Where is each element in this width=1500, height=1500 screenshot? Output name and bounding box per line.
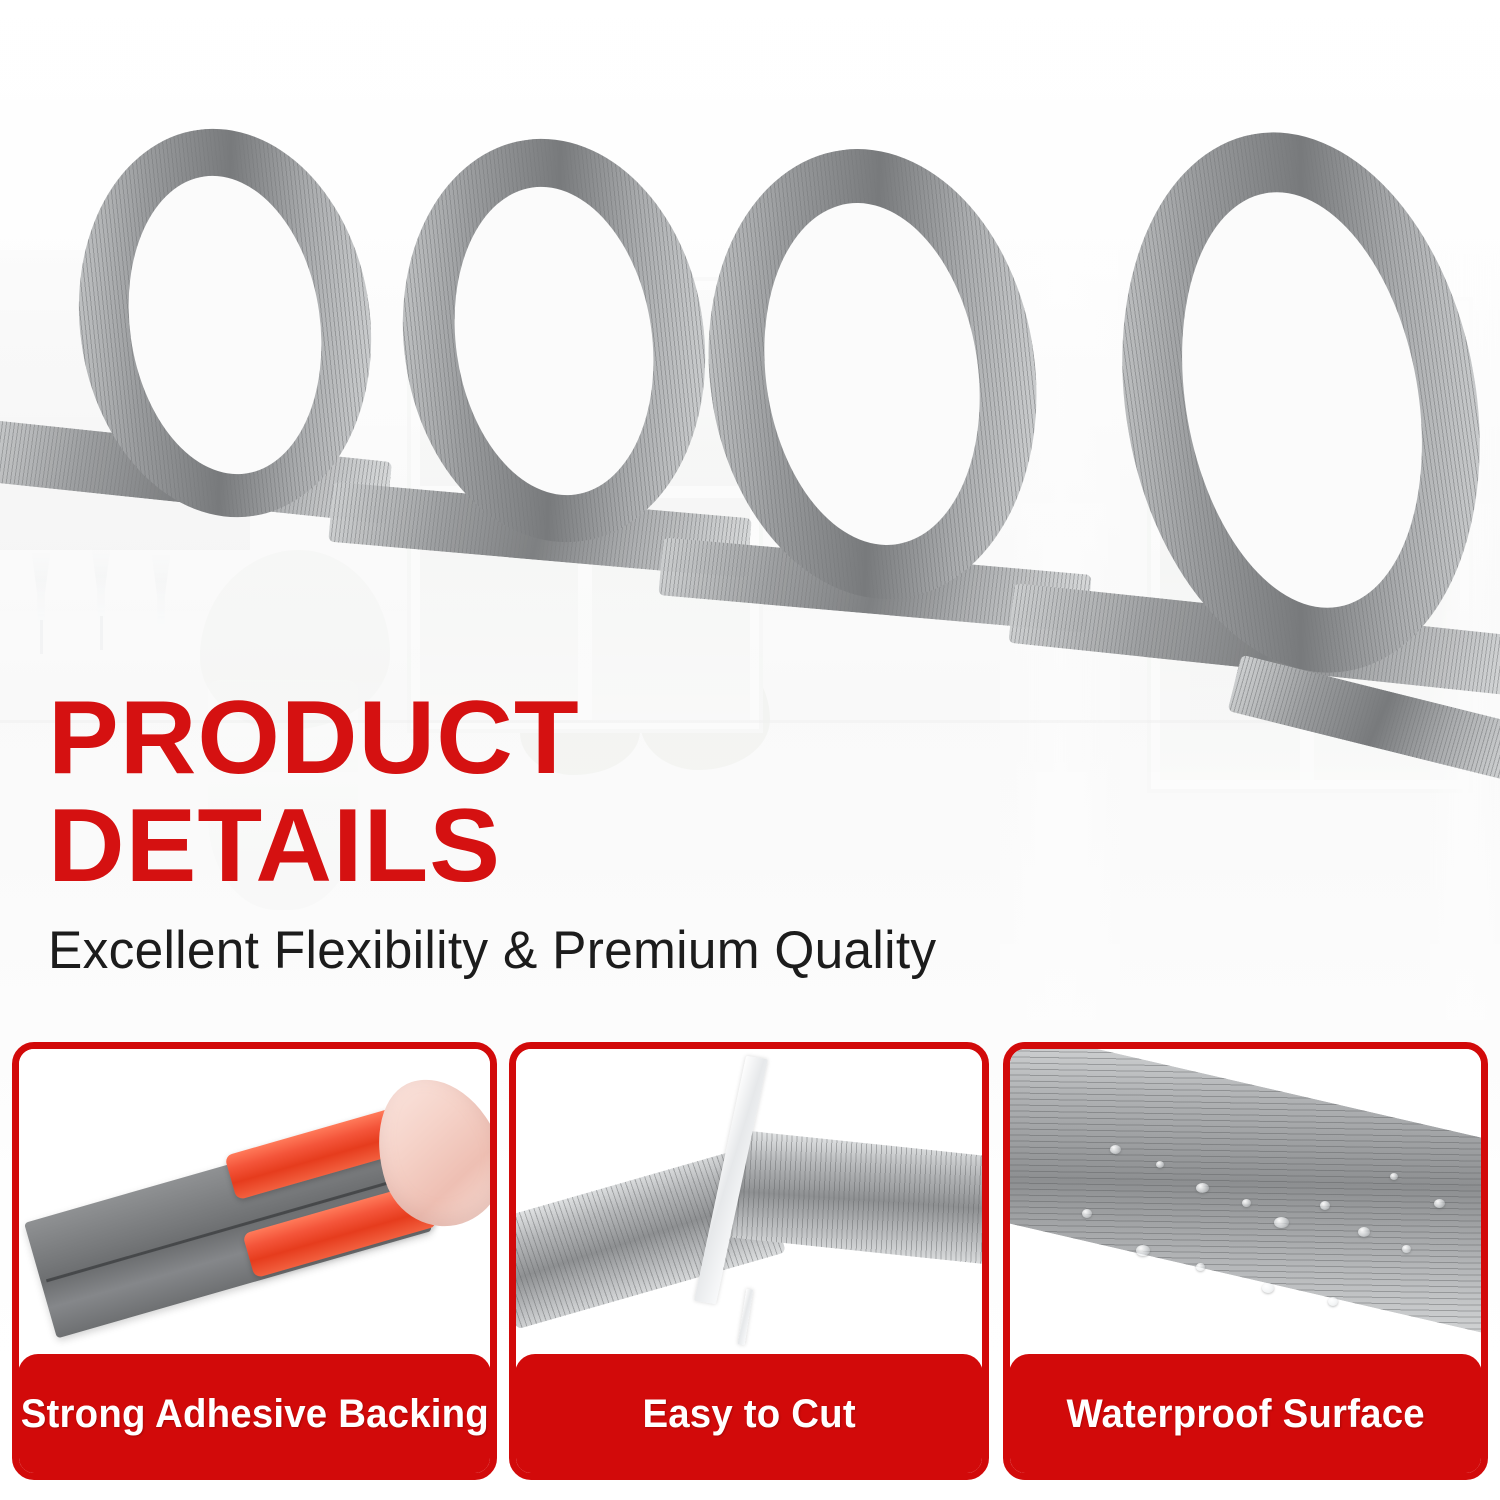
caption-text-cut: Easy to Cut	[642, 1392, 855, 1437]
blade-tip	[738, 1289, 754, 1345]
tape-loop-3	[640, 140, 1040, 610]
caption-text-waterproof: Waterproof Surface	[1066, 1392, 1424, 1437]
water-droplet	[1328, 1297, 1338, 1306]
feature-panel-waterproof[interactable]: Waterproof Surface	[1003, 1042, 1488, 1480]
panel-caption-adhesive: Strong Adhesive Backing	[18, 1354, 491, 1474]
water-droplet	[1274, 1217, 1289, 1228]
water-droplet	[1242, 1199, 1251, 1207]
headline-line-2: DETAILS	[48, 796, 966, 898]
water-droplet	[1320, 1201, 1330, 1210]
panel-caption-waterproof: Waterproof Surface	[1009, 1354, 1482, 1474]
gray-tape-wet	[1010, 1049, 1481, 1342]
water-droplet	[1082, 1209, 1092, 1218]
headline-block: PRODUCT DETAILS Excellent Flexibility & …	[48, 688, 948, 981]
tape-loop-1	[20, 120, 380, 520]
water-droplet	[1262, 1283, 1274, 1293]
headline-line-1: PRODUCT	[48, 688, 966, 790]
panel-photo-waterproof	[1010, 1049, 1481, 1361]
panel-photo-cut	[516, 1049, 982, 1361]
panel-photo-adhesive	[19, 1049, 490, 1361]
water-droplet	[1402, 1245, 1411, 1253]
subtitle: Excellent Flexibility & Premium Quality	[48, 898, 921, 981]
water-droplet	[1136, 1245, 1150, 1256]
water-droplet	[1156, 1161, 1164, 1168]
panel-caption-cut: Easy to Cut	[515, 1354, 983, 1474]
feature-panel-adhesive[interactable]: Strong Adhesive Backing	[12, 1042, 497, 1480]
water-droplet	[1196, 1183, 1209, 1193]
water-droplet	[1390, 1173, 1398, 1180]
feature-panels: Strong Adhesive Backing Easy to Cut	[0, 1030, 1500, 1500]
feature-panel-cut[interactable]: Easy to Cut	[509, 1042, 989, 1480]
water-droplet	[1110, 1145, 1121, 1154]
product-details-infographic: PRODUCT DETAILS Excellent Flexibility & …	[0, 0, 1500, 1500]
water-droplet	[1358, 1227, 1370, 1237]
water-droplet	[1434, 1199, 1445, 1208]
water-droplet	[1196, 1263, 1205, 1271]
caption-text-adhesive: Strong Adhesive Backing	[20, 1392, 488, 1437]
tape-loop-4	[1050, 120, 1480, 680]
